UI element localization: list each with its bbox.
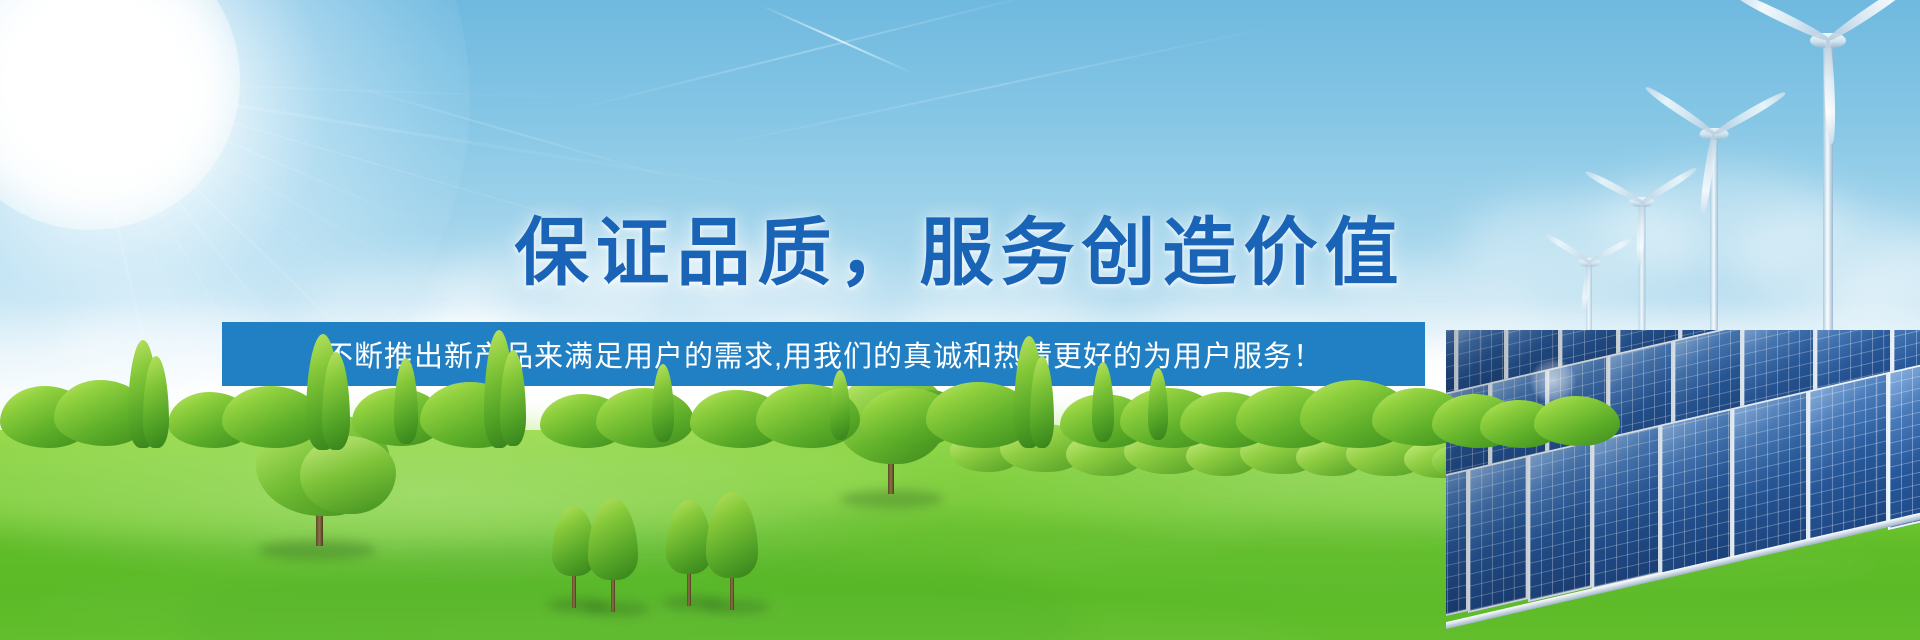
tree-trunk <box>611 576 615 612</box>
solar-panel <box>1808 372 1888 546</box>
panel-glint <box>1890 355 1920 527</box>
panel-glint <box>1594 427 1658 587</box>
solar-panel-array <box>1446 330 1920 640</box>
cypress-tree <box>143 356 169 448</box>
solar-panel <box>1888 353 1920 530</box>
tree-trunk <box>687 570 691 606</box>
tree-shadow <box>584 602 650 616</box>
tree-shadow <box>702 600 770 614</box>
solar-panel <box>1592 425 1660 589</box>
solar-panel <box>1732 391 1808 562</box>
tree-trunk <box>572 572 576 608</box>
subtitle-text: 不断推出新产品来满足用户的需求,用我们的真诚和热情更好的为用户服务！ <box>324 333 1323 375</box>
horizon-bush <box>1534 396 1620 446</box>
panel-glint <box>1530 443 1590 599</box>
solar-panel <box>1468 455 1528 613</box>
promo-banner: 保证品质，服务创造价值 不断推出新产品来满足用户的需求,用我们的真诚和热情更好的… <box>0 0 1920 640</box>
tree-trunk <box>730 574 734 610</box>
page-title: 保证品质，服务创造价值 <box>0 216 1920 290</box>
solar-panel <box>1660 408 1732 576</box>
panel-glint <box>1662 411 1730 574</box>
panel-glint <box>1810 375 1886 544</box>
solar-panel <box>1446 469 1468 624</box>
turbine-blade <box>1644 85 1716 137</box>
panel-glint <box>1446 472 1466 622</box>
panel-glint <box>1470 458 1526 611</box>
horizon-bush <box>596 388 694 448</box>
solar-panel <box>1528 440 1592 601</box>
panel-glint <box>1734 393 1806 559</box>
